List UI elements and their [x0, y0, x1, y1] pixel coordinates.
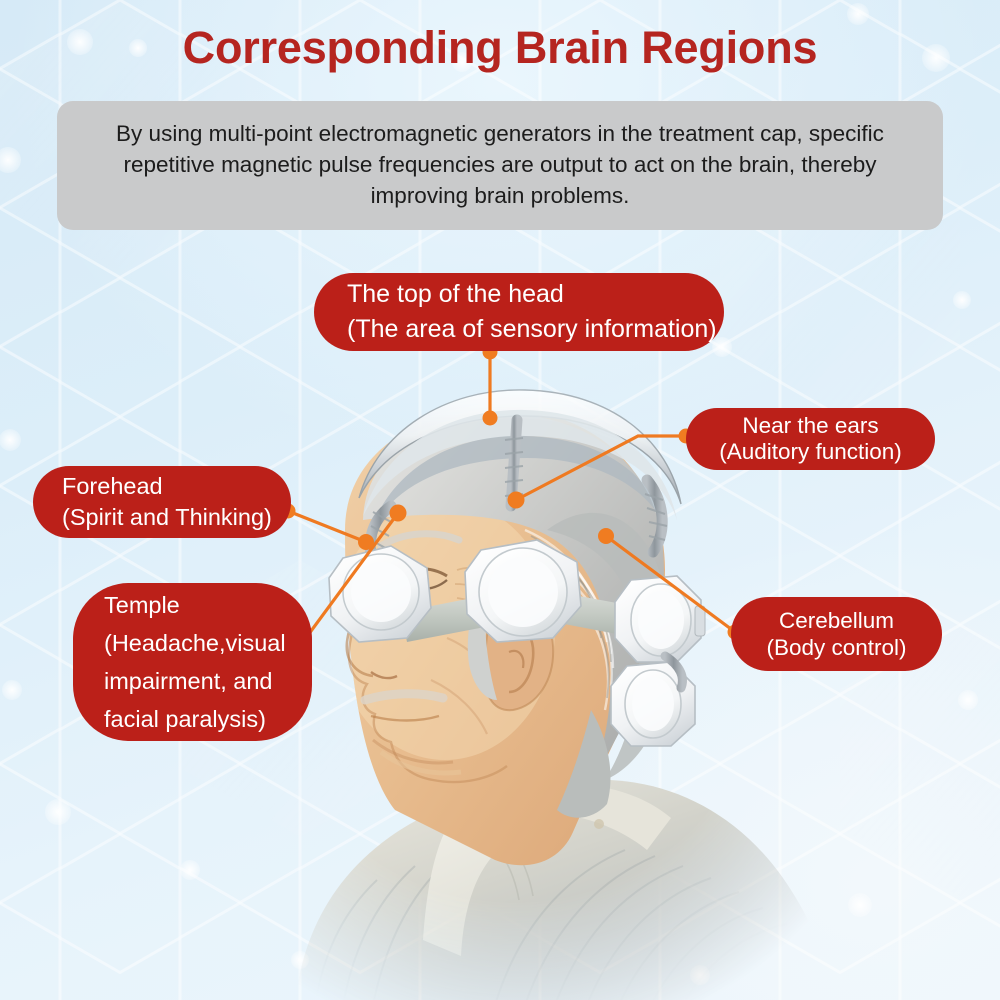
callout-temple-line-1: Temple	[104, 586, 180, 624]
callout-near-the-ears[interactable]: Near the ears (Auditory function)	[686, 408, 935, 470]
callout-forehead[interactable]: Forehead (Spirit and Thinking)	[33, 466, 291, 538]
callout-temple[interactable]: Temple (Headache,visual impairment, and …	[73, 583, 312, 741]
description-line-2: repetitive magnetic pulse frequencies ar…	[95, 149, 905, 180]
callout-near-the-ears-line-1: Near the ears	[742, 413, 878, 439]
callout-forehead-line-1: Forehead	[62, 471, 163, 502]
callout-cerebellum-line-2: (Body control)	[766, 634, 906, 661]
description-line-3: improving brain problems.	[95, 180, 905, 211]
callout-top-of-head[interactable]: The top of the head (The area of sensory…	[314, 273, 724, 351]
infographic-canvas: Corresponding Brain Regions By using mul…	[0, 0, 1000, 1000]
callout-top-of-head-line-1: The top of the head	[347, 277, 564, 312]
callout-temple-line-2: (Headache,visual	[104, 624, 286, 662]
description-box: By using multi-point electromagnetic gen…	[57, 101, 943, 230]
callout-temple-line-4: facial paralysis)	[104, 700, 266, 738]
callout-cerebellum[interactable]: Cerebellum (Body control)	[731, 597, 942, 671]
callout-top-of-head-line-2: (The area of sensory information)	[347, 312, 717, 347]
page-title: Corresponding Brain Regions	[0, 22, 1000, 74]
callout-temple-line-3: impairment, and	[104, 662, 273, 700]
callout-cerebellum-line-1: Cerebellum	[779, 607, 894, 634]
description-line-1: By using multi-point electromagnetic gen…	[95, 118, 905, 149]
callout-near-the-ears-line-2: (Auditory function)	[719, 439, 902, 465]
callout-forehead-line-2: (Spirit and Thinking)	[62, 502, 272, 533]
